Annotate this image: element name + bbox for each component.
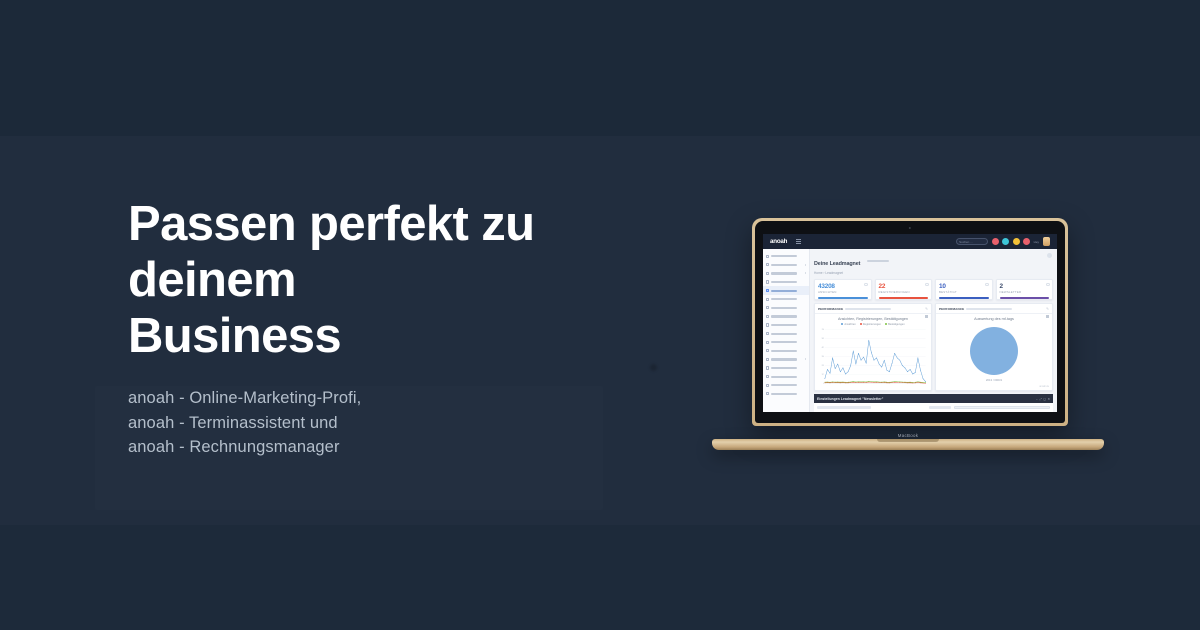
- contacts-icon: [766, 263, 769, 266]
- settings-footer-bar[interactable]: Einstellungen Leadmagnet "Newsletter" − …: [814, 394, 1053, 403]
- maximize-icon[interactable]: ◻: [1043, 397, 1046, 401]
- info-icon[interactable]: [925, 283, 929, 287]
- title-decoration: [867, 260, 889, 262]
- chart-title: Ansichten, Registrierungen, Bestätigunge…: [815, 317, 931, 321]
- kpi-value: 22: [879, 283, 929, 290]
- sidebar-item-automatisierungen[interactable]: [763, 372, 809, 381]
- sidebar-item-kontakte[interactable]: [763, 261, 809, 270]
- kpi-label: REGISTRIERUNGEN: [879, 290, 929, 294]
- legend-item-registrierungen[interactable]: Registrierungen: [860, 323, 881, 326]
- form-strip: [814, 403, 1053, 412]
- pages-icon: [766, 323, 769, 326]
- panel-tag: PERFORMANCE: [818, 307, 843, 311]
- laptop-lid: anoah Suchen ... Hey: [752, 218, 1068, 426]
- panel-tag: PERFORMANCE: [939, 307, 964, 311]
- form-hint-text: [817, 406, 871, 409]
- sidebar-item-auswertungen[interactable]: [763, 329, 809, 338]
- invoice-icon: [766, 384, 769, 387]
- sidebar-item-termine[interactable]: [763, 278, 809, 287]
- sidebar-item-leadmagnet[interactable]: [763, 286, 809, 295]
- legend-item-bestaetigungen[interactable]: Bestätigungen: [885, 323, 905, 326]
- chevron-right-icon: [805, 272, 806, 274]
- chart-legend: Ansichten Registrierungen Bestätigungen: [815, 323, 931, 326]
- laptop-notch: [877, 439, 939, 442]
- svg-text:233: 233: [822, 365, 825, 367]
- kpi-accent-bar: [818, 297, 868, 298]
- laptop-mockup: anoah Suchen ... Hey: [712, 218, 1104, 450]
- background-band-top: [0, 0, 1200, 136]
- dashboard-content: Deine Leadmagnet Home › Leadmagnet 43208…: [810, 249, 1057, 412]
- hero-subtitle-line-1: anoah - Online-Marketing-Profi,: [128, 386, 708, 411]
- panel-description: [845, 308, 891, 310]
- kpi-value: 43208: [818, 283, 868, 290]
- sidebar-item-seiten[interactable]: [763, 321, 809, 330]
- kpi-label: ANSICHTEN: [818, 290, 868, 294]
- legend-label: Ansichten: [844, 323, 855, 326]
- page-header: Deine Leadmagnet Home › Leadmagnet: [814, 252, 1053, 275]
- config-icon: [766, 358, 769, 361]
- kpi-card-newsletter[interactable]: 2 NEWSLETTER: [996, 279, 1054, 300]
- hero-subtitle-line-3: anoah - Rechnungsmanager: [128, 435, 708, 460]
- gear-icon: [766, 272, 769, 275]
- bell-icon[interactable]: [1046, 283, 1050, 287]
- pie-slice-label: 2013 / 09031: [986, 378, 1002, 382]
- sidebar-item-akademie[interactable]: [763, 295, 809, 304]
- hero-subtitle-line-2: anoah - Terminassistent und: [128, 411, 708, 436]
- chart-menu-icon[interactable]: [1046, 315, 1049, 318]
- calendar-code-icon: [766, 341, 769, 344]
- background-band-bottom: [0, 525, 1200, 630]
- sidebar-item-hilfe[interactable]: [763, 390, 809, 399]
- chevron-right-icon: [805, 264, 806, 266]
- academy-icon: [766, 298, 769, 301]
- laptop-bezel: anoah Suchen ... Hey: [755, 221, 1065, 423]
- panel-performance-pie: PERFORMANCE ✎ Auswertung des mf-tags 201…: [935, 303, 1053, 391]
- messages-badge-icon[interactable]: [1002, 238, 1009, 245]
- sidebar-item-rechnungen[interactable]: [763, 381, 809, 390]
- chevron-right-icon: [805, 358, 806, 360]
- sidebar-item-highlevel[interactable]: [763, 304, 809, 313]
- svg-text:350: 350: [822, 356, 825, 358]
- search-placeholder: Suchen ...: [959, 240, 973, 244]
- webcam-icon: [909, 227, 911, 229]
- notifications-badge-icon[interactable]: [992, 238, 999, 245]
- svg-text:467: 467: [822, 347, 825, 349]
- svg-text:0: 0: [823, 383, 824, 385]
- window-controls: − ⤢ ◻ ✕: [1036, 397, 1050, 401]
- sidebar-item-konfigurationen[interactable]: [763, 355, 809, 364]
- help-icon: [766, 392, 769, 395]
- line-chart: 7005834673502331170: [817, 327, 929, 388]
- form-field-label: [929, 406, 951, 409]
- svg-text:583: 583: [822, 338, 825, 340]
- panel-row: PERFORMANCE ✎ Ansichten, Registrierungen…: [814, 303, 1053, 391]
- line-chart-svg: 7005834673502331170: [817, 327, 929, 388]
- hero-subtitle-list: anoah - Online-Marketing-Profi, anoah - …: [128, 386, 708, 460]
- pie-slice-primary[interactable]: [970, 327, 1018, 375]
- laptop-base: [712, 439, 1104, 450]
- sidebar-item-home[interactable]: [763, 252, 809, 261]
- kpi-card-list: 43208 ANSICHTEN 22 REGISTRIERUNGEN: [814, 279, 1053, 300]
- chart-menu-icon[interactable]: [925, 315, 928, 318]
- panel-performance-line: PERFORMANCE ✎ Ansichten, Registrierungen…: [814, 303, 932, 391]
- tasks-badge-icon[interactable]: [1013, 238, 1020, 245]
- hero-copy: Passen perfekt zu deinem Business anoah …: [128, 196, 708, 460]
- search-input[interactable]: Suchen ...: [956, 238, 988, 245]
- expand-icon[interactable]: ⤢: [1039, 397, 1041, 401]
- magic-icon: [766, 349, 769, 352]
- magnet-icon: [766, 289, 769, 292]
- panel-description: [966, 308, 1012, 310]
- svg-text:117: 117: [822, 374, 824, 376]
- sidebar-item-mitarbeiter[interactable]: [763, 364, 809, 373]
- kpi-card-bestaetigt[interactable]: 10 BESTÄTIGT: [935, 279, 993, 300]
- sidebar-item-magic-codes[interactable]: [763, 347, 809, 356]
- kpi-accent-bar: [939, 297, 989, 298]
- dashboard-page-title: Deine Leadmagnet: [814, 261, 860, 267]
- dashboard-topbar: anoah Suchen ... Hey: [763, 234, 1057, 249]
- menu-toggle-icon[interactable]: [796, 239, 801, 243]
- dashboard-screen: anoah Suchen ... Hey: [763, 234, 1057, 412]
- automation-icon: [766, 375, 769, 378]
- settings-footer-title: Einstellungen Leadmagnet "Newsletter": [817, 397, 883, 401]
- kpi-card-ansichten[interactable]: 43208 ANSICHTEN: [814, 279, 872, 300]
- form-input[interactable]: [954, 406, 1050, 409]
- topbar-actions: Suchen ... Hey: [956, 237, 1053, 246]
- page-title: Passen perfekt zu deinem Business: [128, 196, 708, 364]
- chart-credit: anoah.de: [1039, 386, 1049, 388]
- kpi-value: 2: [1000, 283, 1050, 290]
- close-icon[interactable]: ✕: [1047, 397, 1050, 401]
- staff-icon: [766, 366, 769, 369]
- edit-icon[interactable]: ✎: [925, 307, 928, 311]
- kpi-card-registrierungen[interactable]: 22 REGISTRIERUNGEN: [875, 279, 933, 300]
- page-settings-icon[interactable]: [1047, 253, 1052, 258]
- sidebar-item-kalender-codes[interactable]: [763, 338, 809, 347]
- kpi-value: 10: [939, 283, 989, 290]
- svg-text:700: 700: [822, 329, 825, 331]
- dashboard-body: Deine Leadmagnet Home › Leadmagnet 43208…: [763, 249, 1057, 412]
- edit-icon[interactable]: ✎: [1046, 307, 1049, 311]
- sidebar-item-einstellungen[interactable]: [763, 269, 809, 278]
- legend-label: Registrierungen: [863, 323, 881, 326]
- pie-chart: 2013 / 09031: [936, 321, 1052, 390]
- sidebar-item-formulare[interactable]: [763, 312, 809, 321]
- panel-header: PERFORMANCE ✎: [815, 304, 931, 314]
- breadcrumb[interactable]: Home › Leadmagnet: [814, 271, 1053, 275]
- legend-label: Bestätigungen: [888, 323, 905, 326]
- highlevel-icon: [766, 306, 769, 309]
- calendar-icon: [766, 280, 769, 283]
- sidebar: [763, 249, 810, 412]
- home-icon: [766, 255, 769, 258]
- analytics-icon: [766, 332, 769, 335]
- panel-header: PERFORMANCE ✎: [936, 304, 1052, 314]
- legend-item-ansichten[interactable]: Ansichten: [841, 323, 855, 326]
- kpi-accent-bar: [879, 297, 929, 298]
- kpi-label: NEWSLETTER: [1000, 290, 1050, 294]
- kpi-accent-bar: [1000, 297, 1050, 298]
- avatar[interactable]: [1043, 237, 1051, 246]
- user-greeting: Hey: [1034, 240, 1039, 244]
- kpi-label: BESTÄTIGT: [939, 290, 989, 294]
- alerts-badge-icon[interactable]: [1023, 238, 1030, 245]
- anoah-logo[interactable]: anoah: [770, 238, 787, 245]
- social-share-card: Passen perfekt zu deinem Business anoah …: [0, 0, 1200, 630]
- laptop-model-label: MacBook: [898, 433, 918, 438]
- minimize-icon[interactable]: −: [1036, 397, 1038, 401]
- form-icon: [766, 315, 769, 318]
